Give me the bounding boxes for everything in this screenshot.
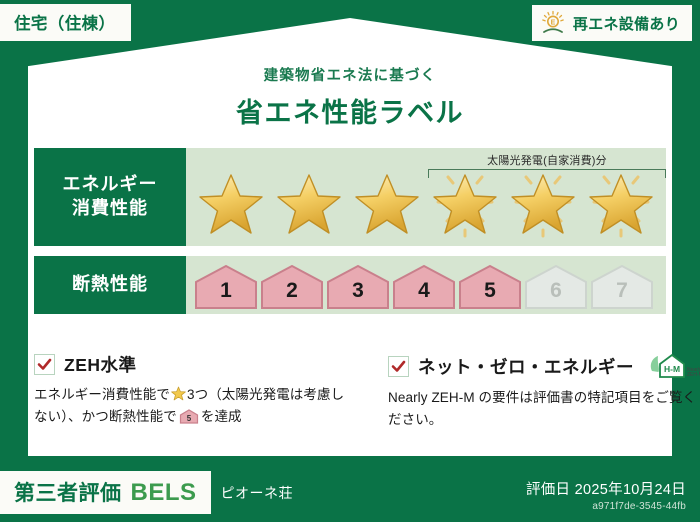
insulation-level-4-num: 4	[418, 280, 430, 310]
footer-right: 評価日 2025年10月24日 a971f7de-3545-44fb	[526, 478, 686, 512]
title-subtitle: 建築物省エネ法に基づく	[0, 64, 700, 85]
insulation-label-line1: 断熱性能	[72, 273, 148, 297]
zeh-desc-part3: を達成	[201, 409, 242, 424]
inline-star-icon	[171, 386, 186, 401]
footer-left: 第三者評価 BELS ピオーネ荘	[0, 471, 293, 514]
insulation-level-5: 5	[458, 264, 522, 310]
svg-text:H-M: H-M	[664, 364, 680, 374]
solar-annotation-label: 太陽光発電(自家消費)分	[428, 152, 666, 168]
insulation-row-label: 断熱性能	[34, 256, 186, 314]
energy-label-line2: 消費性能	[72, 197, 148, 221]
inline-house-icon: 5	[179, 409, 199, 424]
insulation-level-5-num: 5	[484, 280, 496, 310]
feature-blocks: ZEH水準 エネルギー消費性能で3つ（太陽光発電は考慮しない）、かつ断熱性能で5…	[34, 352, 666, 432]
bels-en-label: BELS	[131, 479, 197, 507]
renewable-badge-label: 再エネ設備あり	[573, 13, 680, 34]
insulation-level-4: 4	[392, 264, 456, 310]
building-type-tag: 住宅（住棟）	[0, 4, 131, 41]
performance-rows: エネルギー 消費性能 太陽光発電(自家消費)分	[34, 148, 666, 324]
building-type-label: 住宅（住棟）	[14, 10, 115, 34]
insulation-row-body: 1 2 3 4 5	[186, 256, 666, 314]
zeh-standard-header: ZEH水準	[34, 352, 352, 377]
net-zero-energy-block: ネット・ゼロ・エネルギー H-M Nearly ZEH-M Nearly ZEH…	[364, 352, 700, 432]
net-zero-title: ネット・ゼロ・エネルギー	[418, 354, 634, 379]
insulation-level-1-num: 1	[220, 280, 232, 310]
zeh-standard-description: エネルギー消費性能で3つ（太陽光発電は考慮しない）、かつ断熱性能で5を達成	[34, 384, 352, 429]
evaluation-id: a971f7de-3545-44fb	[526, 501, 686, 512]
bels-jp-label: 第三者評価	[14, 477, 122, 507]
solar-bracket-annotation: 太陽光発電(自家消費)分	[428, 152, 666, 178]
energy-row-label: エネルギー 消費性能	[34, 148, 186, 246]
checkmark-icon	[388, 356, 409, 377]
energy-row-body: 太陽光発電(自家消費)分	[186, 148, 666, 246]
insulation-level-7: 7	[590, 264, 654, 310]
svg-text:E: E	[551, 20, 556, 27]
bels-certification-box: 第三者評価 BELS	[0, 471, 211, 514]
insulation-level-3: 3	[326, 264, 390, 310]
insulation-level-2-num: 2	[286, 280, 298, 310]
insulation-level-6: 6	[524, 264, 588, 310]
insulation-level-2: 2	[260, 264, 324, 310]
zeh-standard-block: ZEH水準 エネルギー消費性能で3つ（太陽光発電は考慮しない）、かつ断熱性能で5…	[34, 352, 364, 432]
zeh-desc-part1: エネルギー消費性能で	[34, 387, 170, 402]
building-name: ピオーネ荘	[221, 483, 294, 503]
energy-label-line1: エネルギー	[63, 173, 158, 197]
insulation-performance-row: 断熱性能 1 2 3 4	[34, 256, 666, 314]
page-title: 省エネ性能ラベル	[0, 91, 700, 130]
insulation-level-7-num: 7	[616, 280, 628, 310]
insulation-level-1: 1	[194, 264, 258, 310]
evaluation-date: 評価日 2025年10月24日	[526, 478, 686, 499]
title-block: 建築物省エネ法に基づく 省エネ性能ラベル	[0, 64, 700, 130]
zeh-standard-title: ZEH水準	[64, 352, 137, 377]
net-zero-header: ネット・ゼロ・エネルギー H-M Nearly ZEH-M	[388, 352, 700, 380]
svg-text:ZEH-M: ZEH-M	[687, 372, 700, 378]
star-2	[270, 166, 348, 240]
nearly-zehm-logo-icon: H-M Nearly ZEH-M	[649, 352, 700, 380]
bracket-line	[428, 169, 666, 178]
energy-performance-row: エネルギー 消費性能 太陽光発電(自家消費)分	[34, 148, 666, 246]
insulation-level-scale: 1 2 3 4 5	[194, 264, 654, 310]
star-3	[348, 166, 426, 240]
renewable-energy-badge: E 再エネ設備あり	[532, 5, 692, 41]
solar-sun-icon: E	[540, 10, 566, 36]
insulation-level-6-num: 6	[550, 280, 562, 310]
svg-text:5: 5	[187, 414, 192, 423]
star-1	[192, 166, 270, 240]
checkmark-icon	[34, 354, 55, 375]
insulation-level-3-num: 3	[352, 280, 364, 310]
net-zero-description: Nearly ZEH-M の要件は評価書の特記項目をご覧ください。	[388, 387, 700, 432]
